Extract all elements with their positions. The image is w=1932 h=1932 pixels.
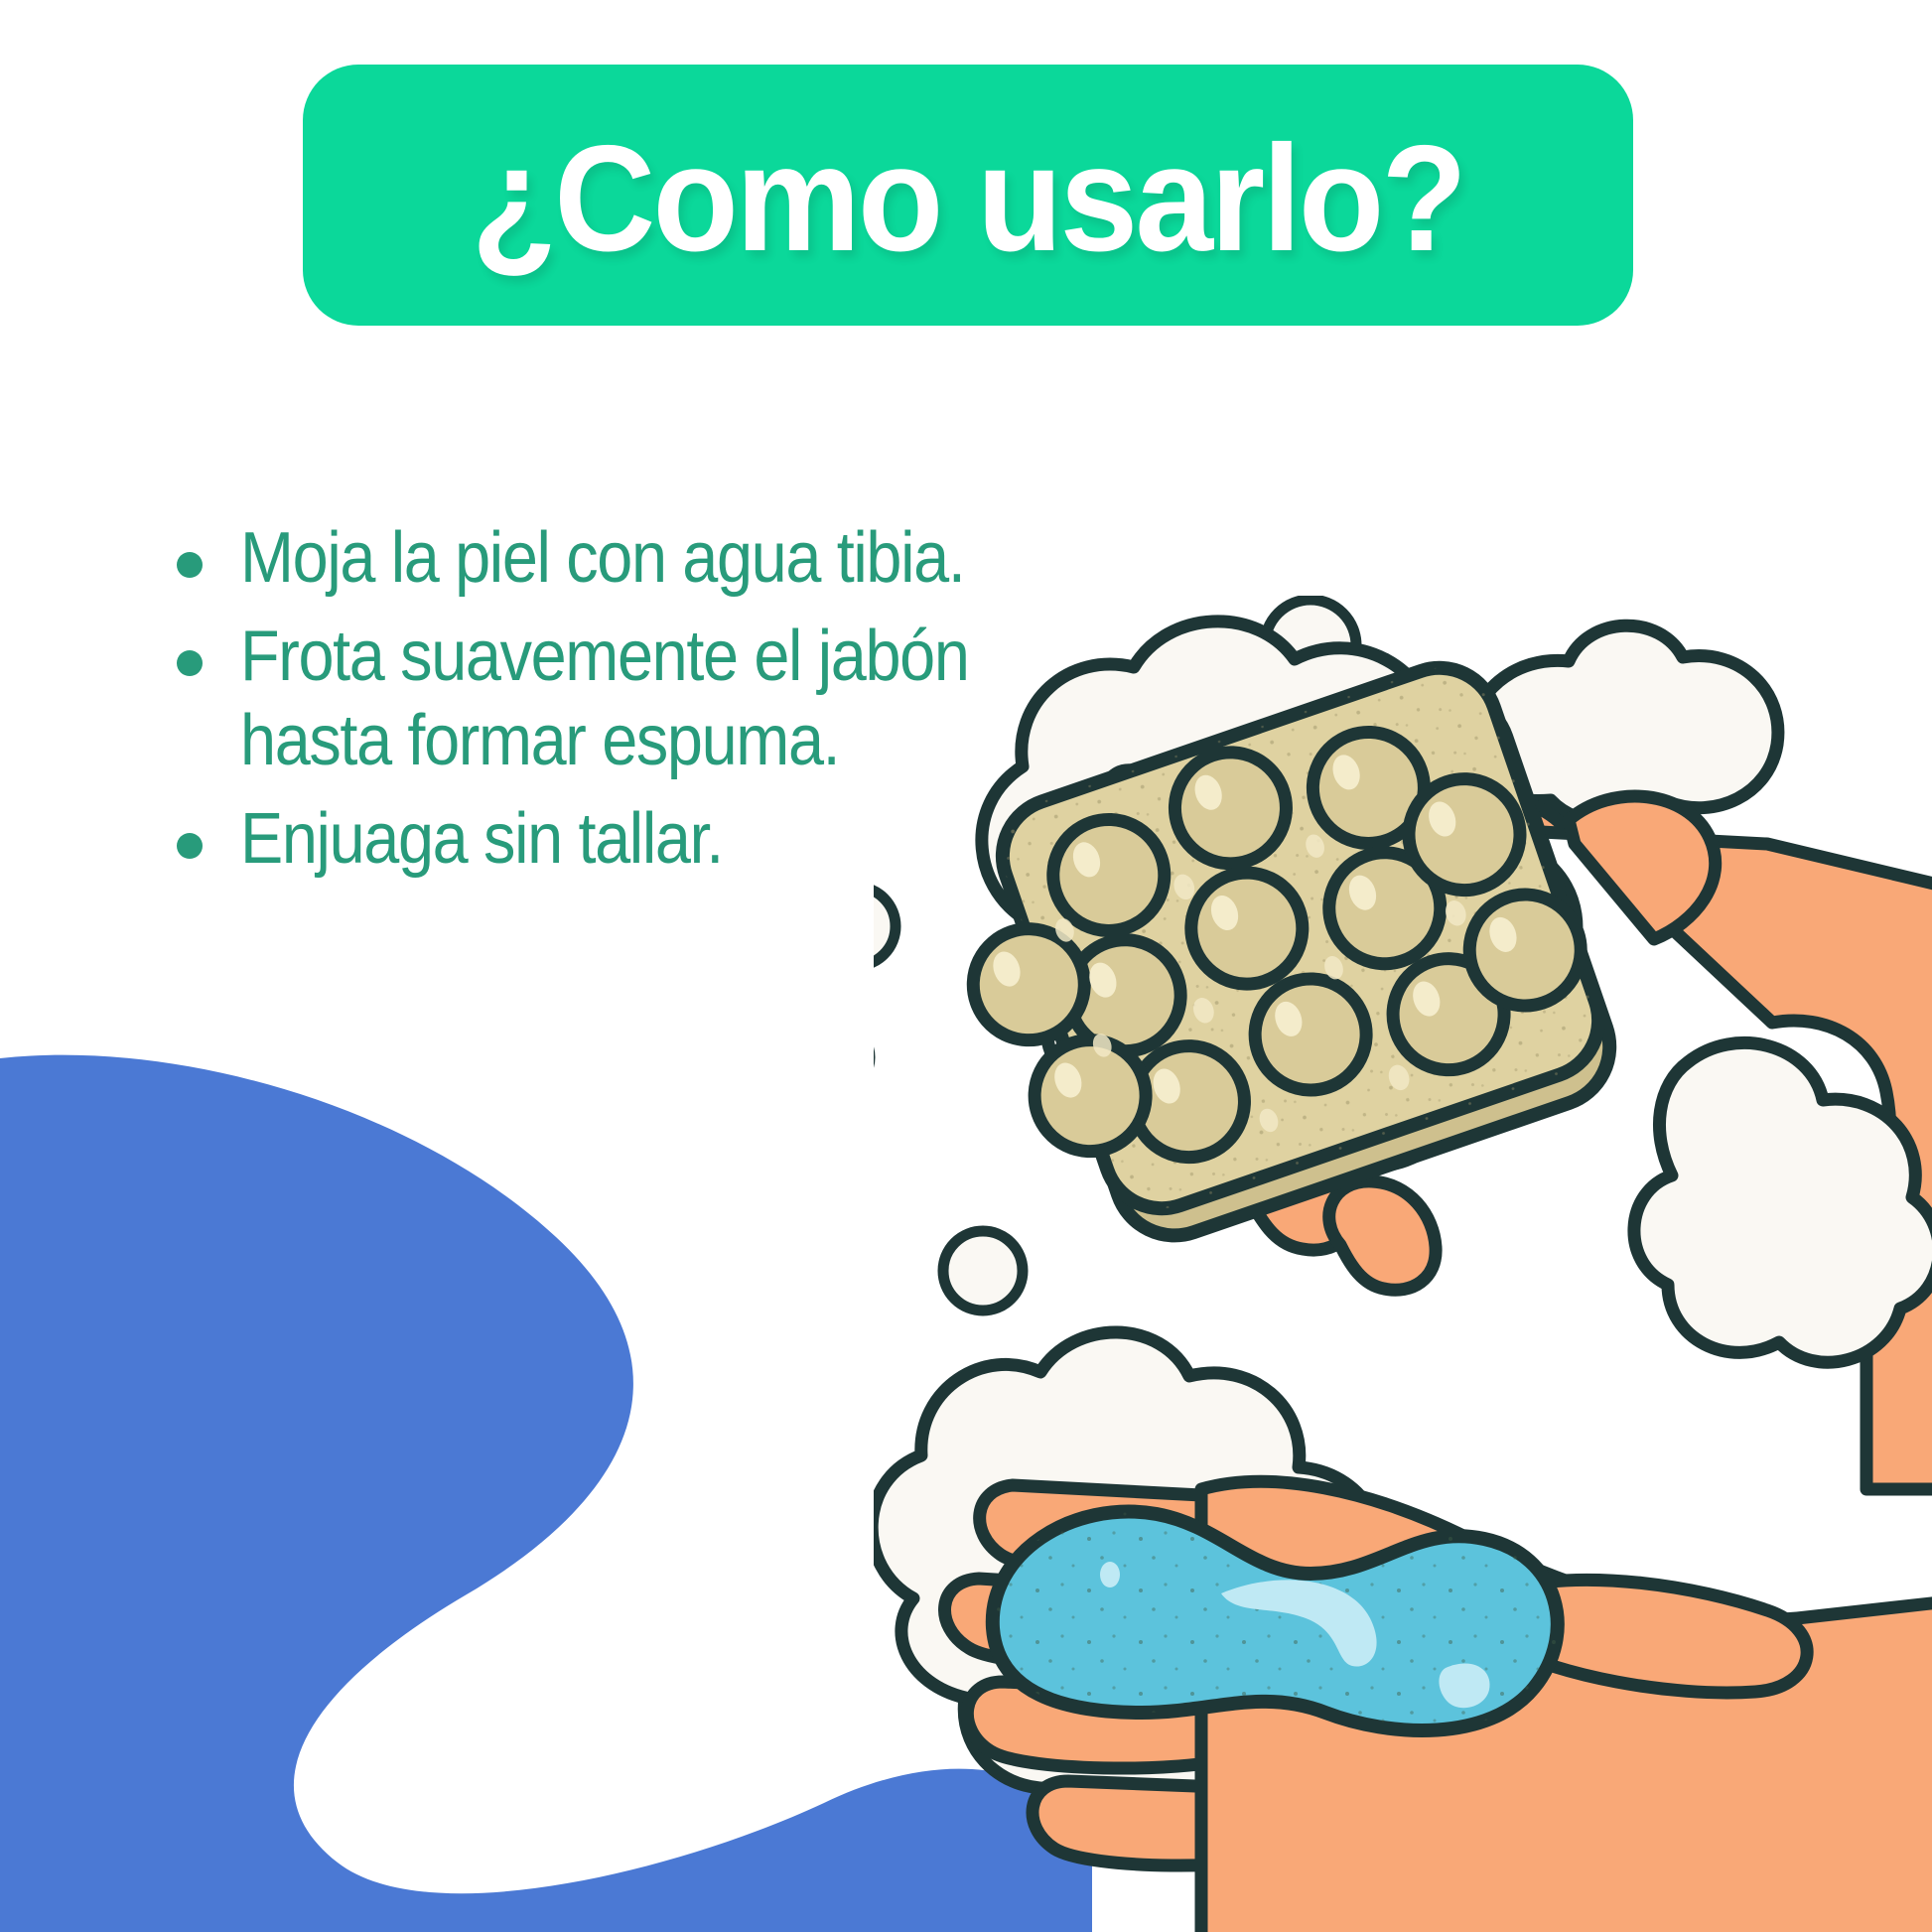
bubble-icon [874,887,896,966]
upper-hand-palm [1428,798,1932,1489]
lower-hand-finger [967,1682,1257,1768]
foam-cloud-right [1634,1042,1932,1362]
step-label: Moja la piel con agua tibia. [240,516,964,601]
upper-hand-fingers [1081,1013,1436,1291]
lower-hand-finger [980,1485,1236,1571]
bullet-dot-icon [177,650,203,676]
lower-hand-finger [1033,1781,1307,1865]
list-item: Moja la piel con agua tibia. [177,516,1189,601]
bullet-dot-icon [177,833,203,859]
list-item: Frota suavemente el jabón hasta formar e… [177,615,1189,783]
lower-hand-finger [945,1579,1237,1666]
bubble-icon [1265,600,1356,691]
bubble-icon [943,1231,1023,1311]
step-label: Frota suavemente el jabón hasta formar e… [240,615,969,783]
gel-highlight [1439,1664,1489,1709]
gel-blob [973,1489,1608,1767]
step-label: Enjuaga sin tallar. [240,797,723,882]
lower-hand-thumb [1484,1580,1807,1693]
wave-shape [0,1055,1092,1932]
foam-cloud-lower [874,1332,1400,1828]
upper-hand-thumb [1569,796,1716,939]
list-item: Enjuaga sin tallar. [177,797,1189,882]
page-title: ¿Como usarlo? [472,123,1464,274]
bullet-dot-icon [177,552,203,578]
gel-highlight [1221,1580,1377,1666]
lower-hand [945,1481,1932,1932]
blue-wave-decoration [0,939,1092,1932]
heading-banner: ¿Como usarlo? [303,65,1633,326]
poster-canvas: ¿Como usarlo? Moja la piel con agua tibi… [0,0,1932,1932]
lower-hand-palm [1201,1481,1932,1932]
usage-steps-list: Moja la piel con agua tibia. Frota suave… [177,516,1189,896]
foam-puff [1469,625,1778,823]
gel-highlight-dot [1100,1562,1120,1587]
bubble-icon [1896,1221,1932,1281]
